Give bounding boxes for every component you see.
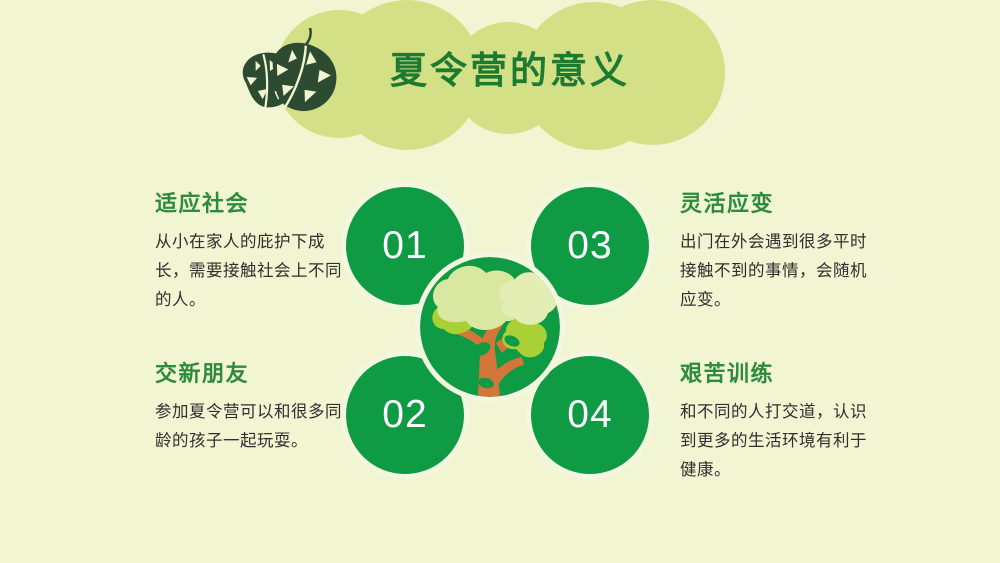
text-block-04: 艰苦训练 和不同的人打交道，认识到更多的生活环境有利于健康。 <box>680 360 880 485</box>
text-block-03-heading: 灵活应变 <box>680 190 880 218</box>
text-block-04-heading: 艰苦训练 <box>680 360 880 388</box>
text-block-03: 灵活应变 出门在外会遇到很多平时接触不到的事情，会随机应变。 <box>680 190 880 315</box>
center-diagram: 01 02 03 04 <box>335 178 665 490</box>
text-block-04-body: 和不同的人打交道，认识到更多的生活环境有利于健康。 <box>680 398 880 485</box>
text-block-01: 适应社会 从小在家人的庇护下成长，需要接触社会上不同的人。 <box>155 190 355 315</box>
slide-canvas: 夏令营的意义 01 02 03 04 <box>0 0 1000 563</box>
page-title: 夏令营的意义 <box>360 48 660 94</box>
monstera-leaves-icon <box>228 28 348 138</box>
text-block-01-heading: 适应社会 <box>155 190 355 218</box>
text-block-02: 交新朋友 参加夏令营可以和很多同龄的孩子一起玩耍。 <box>155 360 355 456</box>
text-block-03-body: 出门在外会遇到很多平时接触不到的事情，会随机应变。 <box>680 228 880 315</box>
tree-illustration-icon <box>415 252 565 402</box>
text-block-01-body: 从小在家人的庇护下成长，需要接触社会上不同的人。 <box>155 228 355 315</box>
text-block-02-body: 参加夏令营可以和很多同龄的孩子一起玩耍。 <box>155 398 355 456</box>
text-block-02-heading: 交新朋友 <box>155 360 355 388</box>
